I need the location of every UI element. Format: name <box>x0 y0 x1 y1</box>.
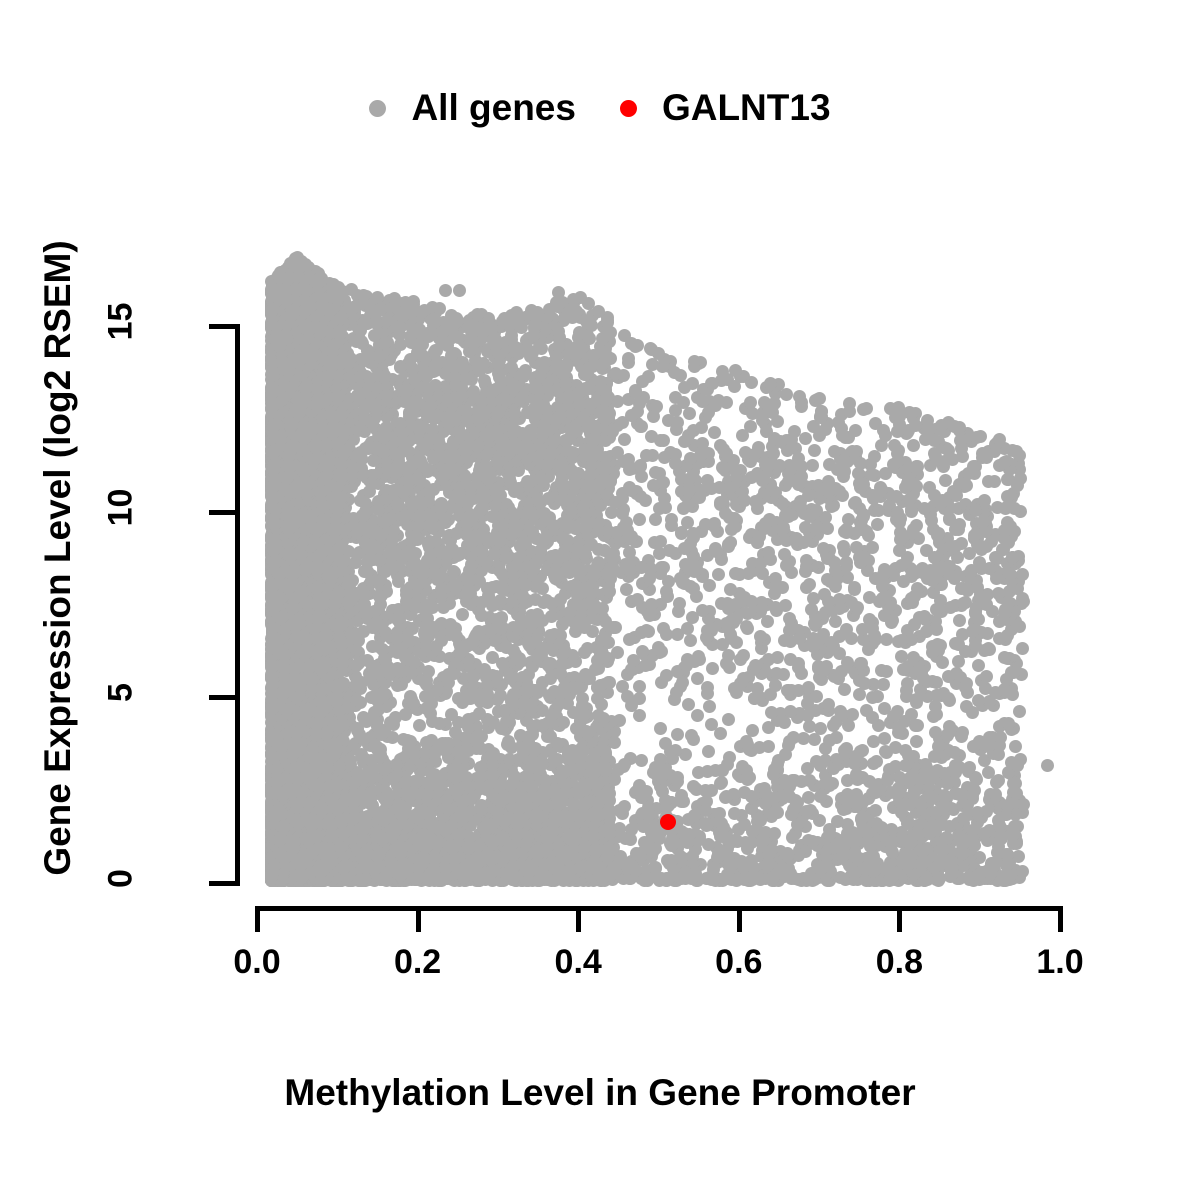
data-point <box>705 718 718 731</box>
data-point <box>714 727 727 740</box>
data-point <box>722 713 735 726</box>
data-point-layer <box>0 0 1200 1200</box>
data-point <box>633 680 646 693</box>
data-point <box>649 513 662 526</box>
data-point <box>702 745 715 758</box>
data-point <box>703 700 716 713</box>
scatter-plot-figure: All genes GALNT13 Gene Expression Level … <box>0 0 1200 1200</box>
data-point <box>682 698 695 711</box>
data-point <box>633 709 646 722</box>
data-point <box>1013 705 1026 718</box>
data-point <box>654 722 667 735</box>
data-point <box>871 518 884 531</box>
data-point <box>780 388 793 401</box>
plot-area: 0.00.20.40.60.81.0051015 <box>0 0 1200 1200</box>
data-point <box>724 583 737 596</box>
data-point <box>413 719 426 732</box>
data-point <box>907 439 920 452</box>
data-point <box>969 639 982 652</box>
data-point <box>910 735 923 748</box>
data-point <box>1009 740 1022 753</box>
data-point <box>618 433 631 446</box>
